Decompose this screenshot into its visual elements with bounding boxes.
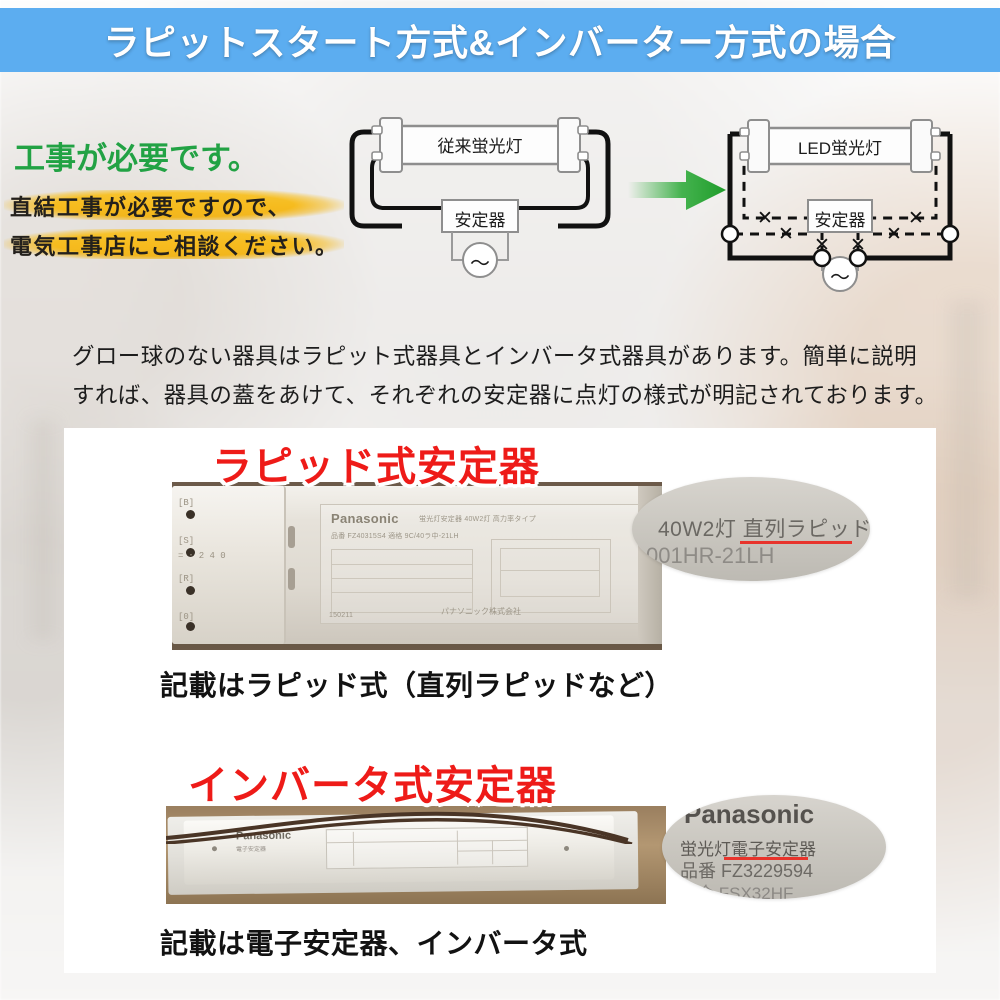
ballast-spec-label: Panasonic 蛍光灯安定器 40W2灯 高力率タイプ 品番 FZ40315… <box>320 504 642 624</box>
terminal-marking: [S] <box>178 536 194 546</box>
infographic-page: ラピットスタート方式&インバーター方式の場合 工事が必要です。 直結工事が必要で… <box>0 0 1000 1000</box>
block-caption-rapid: 記載はラピッド式（直列ラピッドなど） <box>160 664 673 704</box>
brand-text: Panasonic <box>331 511 399 526</box>
block-heading-inverter: インバータ式安定器 <box>188 753 557 811</box>
spec-table <box>331 549 473 613</box>
magnifier-callout-rapid: 40W2灯 直列ラピッド 001HR-21LH <box>632 477 870 581</box>
notice-highlight-block: 直結工事が必要ですので、 電気工事店にご相談ください。 <box>4 188 344 266</box>
model-text: 品番 FZ40315S4 適格 9C/40ラ中-21LH <box>331 531 459 541</box>
notice-line: 電気工事店にご相談ください。 <box>4 227 344 262</box>
callout-line-2: 001HR-21LH <box>646 543 774 569</box>
block-caption-inverter: 記載は電子安定器、インバータ式 <box>160 922 588 962</box>
notice-line-text: 電気工事店にご相談ください。 <box>4 229 339 261</box>
rapid-ballast-photo: [B] [S] = ･ 2 4 0 [R] [0] Panasonic 蛍光灯安… <box>172 482 662 650</box>
wiring-diagram-print <box>491 539 611 613</box>
cut-mark-icon: ✕ <box>778 223 794 246</box>
screw <box>564 846 569 851</box>
notice-line-text: 直結工事が必要ですので、 <box>4 190 291 222</box>
header-banner: ラピットスタート方式&インバーター方式の場合 <box>0 8 1000 72</box>
tube-label-conventional: 従来蛍光灯 <box>418 132 542 157</box>
banner-title: ラピットスタート方式&インバーター方式の場合 <box>104 14 897 66</box>
ac-source-symbol-right: ～ <box>823 261 857 290</box>
ballast-label-left: 安定器 <box>442 206 518 231</box>
terminal-screw <box>186 622 195 631</box>
background-streak <box>30 420 56 640</box>
date-code: 150211 <box>329 612 353 619</box>
spec-text: 蛍光灯安定器 40W2灯 高力率タイプ <box>419 514 536 524</box>
cut-mark-icon: ✕ <box>886 223 902 246</box>
brand-subtext: 電子安定器 <box>236 844 266 853</box>
terminal-screw <box>186 586 195 595</box>
callout-line-3: 適合 FSX32HF <box>680 879 793 899</box>
ballast-vent-slot <box>288 526 295 548</box>
magnifier-callout-inverter: Panasonic 蛍光灯電子安定器 品番 FZ3229594 適合 FSX32… <box>662 795 886 899</box>
terminal-marking: = ･ 2 4 0 <box>178 548 226 561</box>
ballast-terminal-cap: [B] [S] = ･ 2 4 0 [R] [0] <box>172 486 286 644</box>
terminal-marking: [R] <box>178 574 194 584</box>
body-line-2: すれば、器具の蓋をあけて、それぞれの安定器に点灯の様式が明記されております。 <box>66 376 966 415</box>
diagram-led-direct: LED蛍光灯 安定器 ～ ✕ ✕ ✕ ✕ ✕ ✕ <box>690 108 990 298</box>
cut-mark-icon: ✕ <box>814 234 830 257</box>
cut-mark-icon: ✕ <box>850 234 866 257</box>
terminal-screw <box>186 510 195 519</box>
ac-source-symbol-left: ～ <box>463 247 497 276</box>
body-line-1: グロー球のない器具はラピット式器具とインバータ式器具があります。簡単に説明 <box>66 337 966 376</box>
diagram-conventional: 従来蛍光灯 安定器 ～ <box>330 108 630 298</box>
callout-brand: Panasonic <box>684 799 814 830</box>
callout-line-1: 40W2灯 直列ラピッド <box>658 513 870 543</box>
ballast-vent-slot <box>288 568 295 590</box>
manufacturer-footer: パナソニック株式会社 <box>441 606 521 617</box>
terminal-marking: [B] <box>178 498 194 508</box>
terminal-marking: [0] <box>178 612 194 622</box>
cut-mark-icon: ✕ <box>757 207 773 230</box>
cut-mark-icon: ✕ <box>908 207 924 230</box>
block-heading-rapid: ラピッド式安定器 <box>212 434 540 492</box>
inverter-ballast-photo: Panasonic 電子安定器 <box>166 806 666 904</box>
tube-label-led: LED蛍光灯 <box>778 134 902 159</box>
notice-heading: 工事が必要です。 <box>14 133 314 178</box>
notice-line: 直結工事が必要ですので、 <box>4 188 344 223</box>
screw <box>212 846 217 851</box>
ballast-label-right: 安定器 <box>808 206 872 231</box>
body-paragraph: グロー球のない器具はラピット式器具とインバータ式器具があります。簡単に説明 すれ… <box>66 337 966 415</box>
power-wire <box>166 810 636 844</box>
